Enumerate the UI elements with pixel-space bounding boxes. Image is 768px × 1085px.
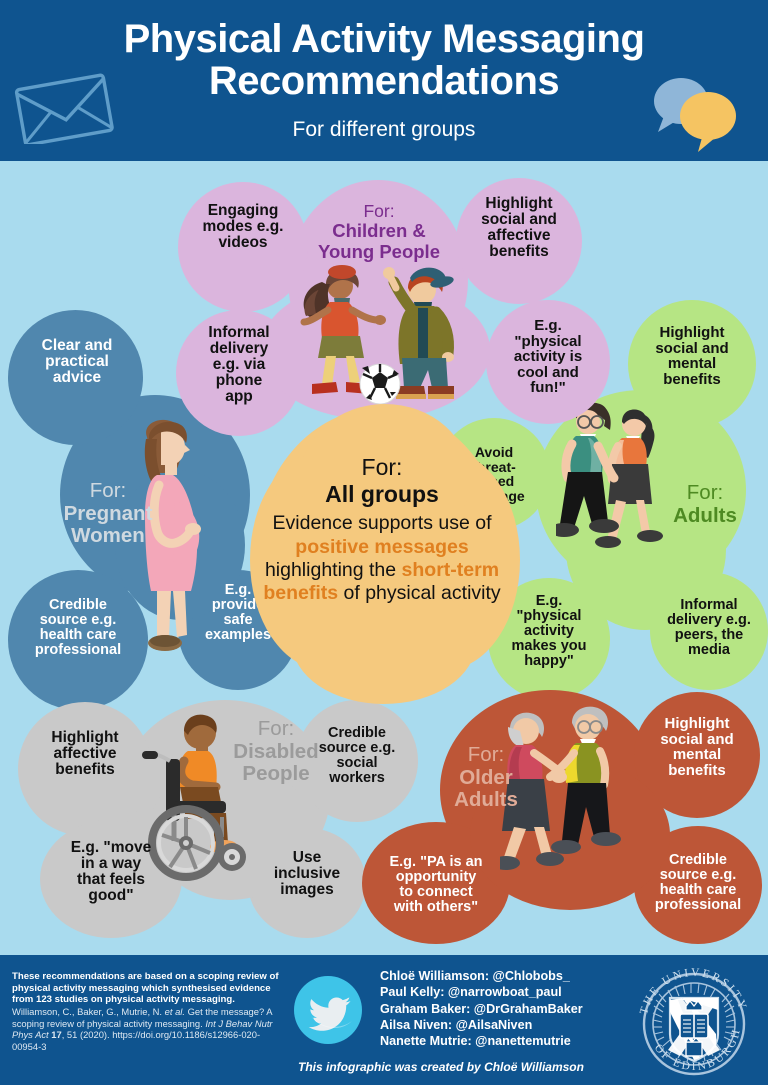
group-for-label: For:: [48, 480, 168, 503]
reference-citation: Williamson, C., Baker, G., Mutrie, N. et…: [12, 1006, 280, 1052]
group-name-line1: Pregnant: [48, 503, 168, 526]
group-for-label: For:: [650, 482, 760, 505]
bubble-pregnant-clear-advice: Clear and practical advice: [18, 338, 136, 386]
group-name-line2: Young People: [300, 242, 458, 262]
bubble-disabled-eg-move: E.g. "move in a way that feels good": [42, 840, 180, 904]
bubble-disabled-inclusive-images: Use inclusive images: [252, 850, 362, 898]
group-for-label: For:: [300, 202, 458, 221]
group-name: All groups: [262, 481, 502, 507]
bubble-children-eg-cool-fun: E.g. "physical activity is cool and fun!…: [490, 318, 606, 396]
bubble-older-highlight-benefits: Highlight social and mental benefits: [638, 716, 756, 778]
reference-summary: These recommendations are based on a sco…: [12, 971, 280, 1006]
handle-item[interactable]: Ailsa Niven: @AilsaNiven: [380, 1018, 532, 1032]
author-twitter-handles: Chloë Williamson: @Chlobobs_ Paul Kelly:…: [380, 968, 640, 1050]
handle-item[interactable]: Graham Baker: @DrGrahamBaker: [380, 1002, 583, 1016]
bubble-children-engaging-modes: Engaging modes e.g. videos: [182, 203, 304, 251]
group-title-children-young-people: For: Children & Young People: [300, 202, 458, 262]
group-name-line2: Adults: [436, 789, 536, 812]
two-children-with-football-icon: [300, 262, 470, 407]
bubble-children-highlight-benefits: Highlight social and affective benefits: [460, 196, 578, 260]
bubble-disabled-highlight-affective: Highlight affective benefits: [22, 730, 148, 778]
handle-item[interactable]: Chloë Williamson: @Chlobobs_: [380, 969, 570, 983]
group-name-line1: Older: [436, 767, 536, 790]
poster-title-line2: Recommendations: [209, 59, 559, 103]
reference-block: These recommendations are based on a sco…: [12, 971, 280, 1052]
twitter-bird-icon[interactable]: [294, 976, 362, 1044]
all-groups-panel-text: For: All groups Evidence supports use of…: [262, 455, 502, 606]
poster-header: Physical Activity Messaging Recommendati…: [0, 0, 768, 161]
bubble-pregnant-credible-source: Credible source e.g. health care profess…: [10, 598, 146, 658]
speech-bubbles-icon: [648, 74, 742, 152]
infographic-poster: For: Pregnant Women Clear and practical …: [0, 0, 768, 1085]
created-by-credit: This infographic was created by Chloë Wi…: [256, 1060, 626, 1074]
group-title-pregnant-women: For: Pregnant Women: [48, 480, 168, 548]
bubble-children-informal-delivery: Informal delivery e.g. via phone app: [180, 325, 298, 406]
group-name-line2: Women: [48, 525, 168, 548]
bubble-adults-highlight-benefits: Highlight social and mental benefits: [633, 325, 751, 387]
handle-item[interactable]: Paul Kelly: @narrowboat_paul: [380, 985, 562, 999]
bubble-disabled-credible-source: Credible source e.g. social workers: [300, 726, 414, 786]
group-title-older-adults: For: Older Adults: [436, 744, 536, 812]
handle-item[interactable]: Nanette Mutrie: @nanettemutrie: [380, 1034, 571, 1048]
group-for-label: For:: [262, 455, 502, 481]
group-for-label: For:: [436, 744, 536, 767]
poster-title-line1: Physical Activity Messaging: [124, 17, 645, 61]
all-groups-body: Evidence supports use of positive messag…: [262, 512, 502, 606]
group-title-adults: For: Adults: [650, 482, 760, 527]
university-of-edinburgh-crest-icon: THE UNIVERSITY OF EDINBURGH: [630, 958, 758, 1082]
highlight-positive-messages: positive messages: [295, 536, 468, 558]
group-name: Adults: [650, 505, 760, 528]
bubble-adults-informal-delivery: Informal delivery e.g. peers, the media: [652, 598, 766, 658]
bubble-older-credible-source: Credible source e.g. health care profess…: [636, 853, 760, 913]
bubble-older-eg-connect: E.g. "PA is an opportunity to connect wi…: [364, 855, 508, 915]
group-name-line1: Children &: [300, 221, 458, 241]
